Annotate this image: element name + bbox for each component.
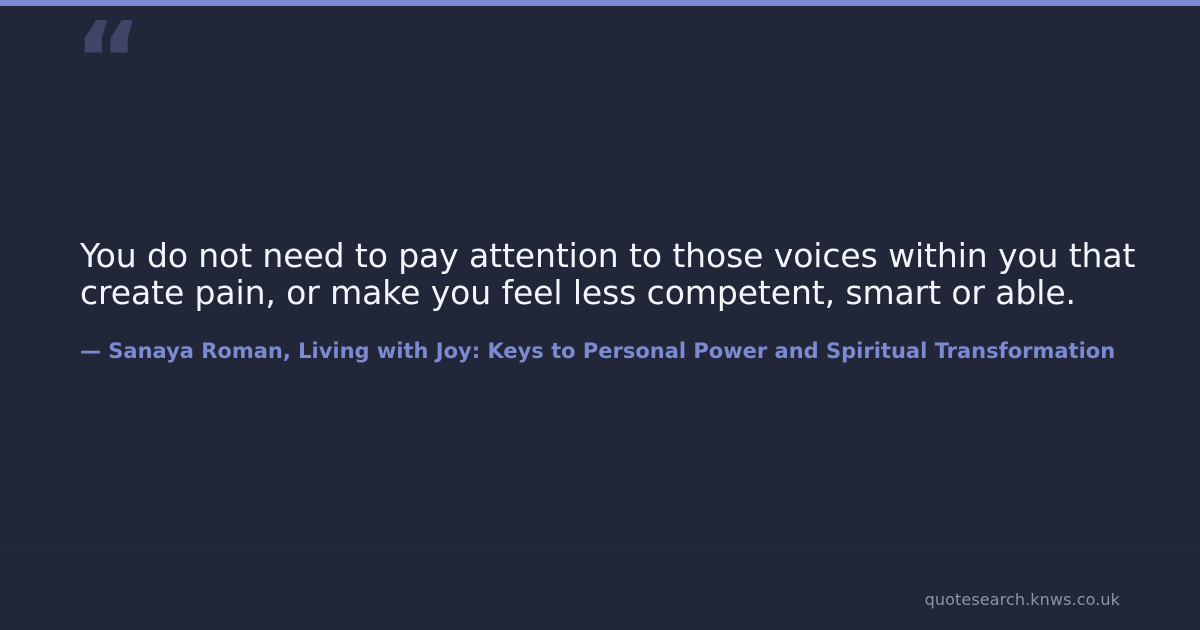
quote-attribution: — Sanaya Roman, Living with Joy: Keys to… [80,338,1200,364]
top-accent-bar [0,0,1200,6]
quote-card: “ You do not need to pay attention to th… [0,0,1200,630]
open-quote-icon: “ [74,8,140,112]
site-watermark: quotesearch.knws.co.uk [925,590,1120,609]
footer-divider [0,550,1200,551]
quote-text: You do not need to pay attention to thos… [80,238,1140,312]
quote-block: You do not need to pay attention to thos… [80,238,1140,312]
